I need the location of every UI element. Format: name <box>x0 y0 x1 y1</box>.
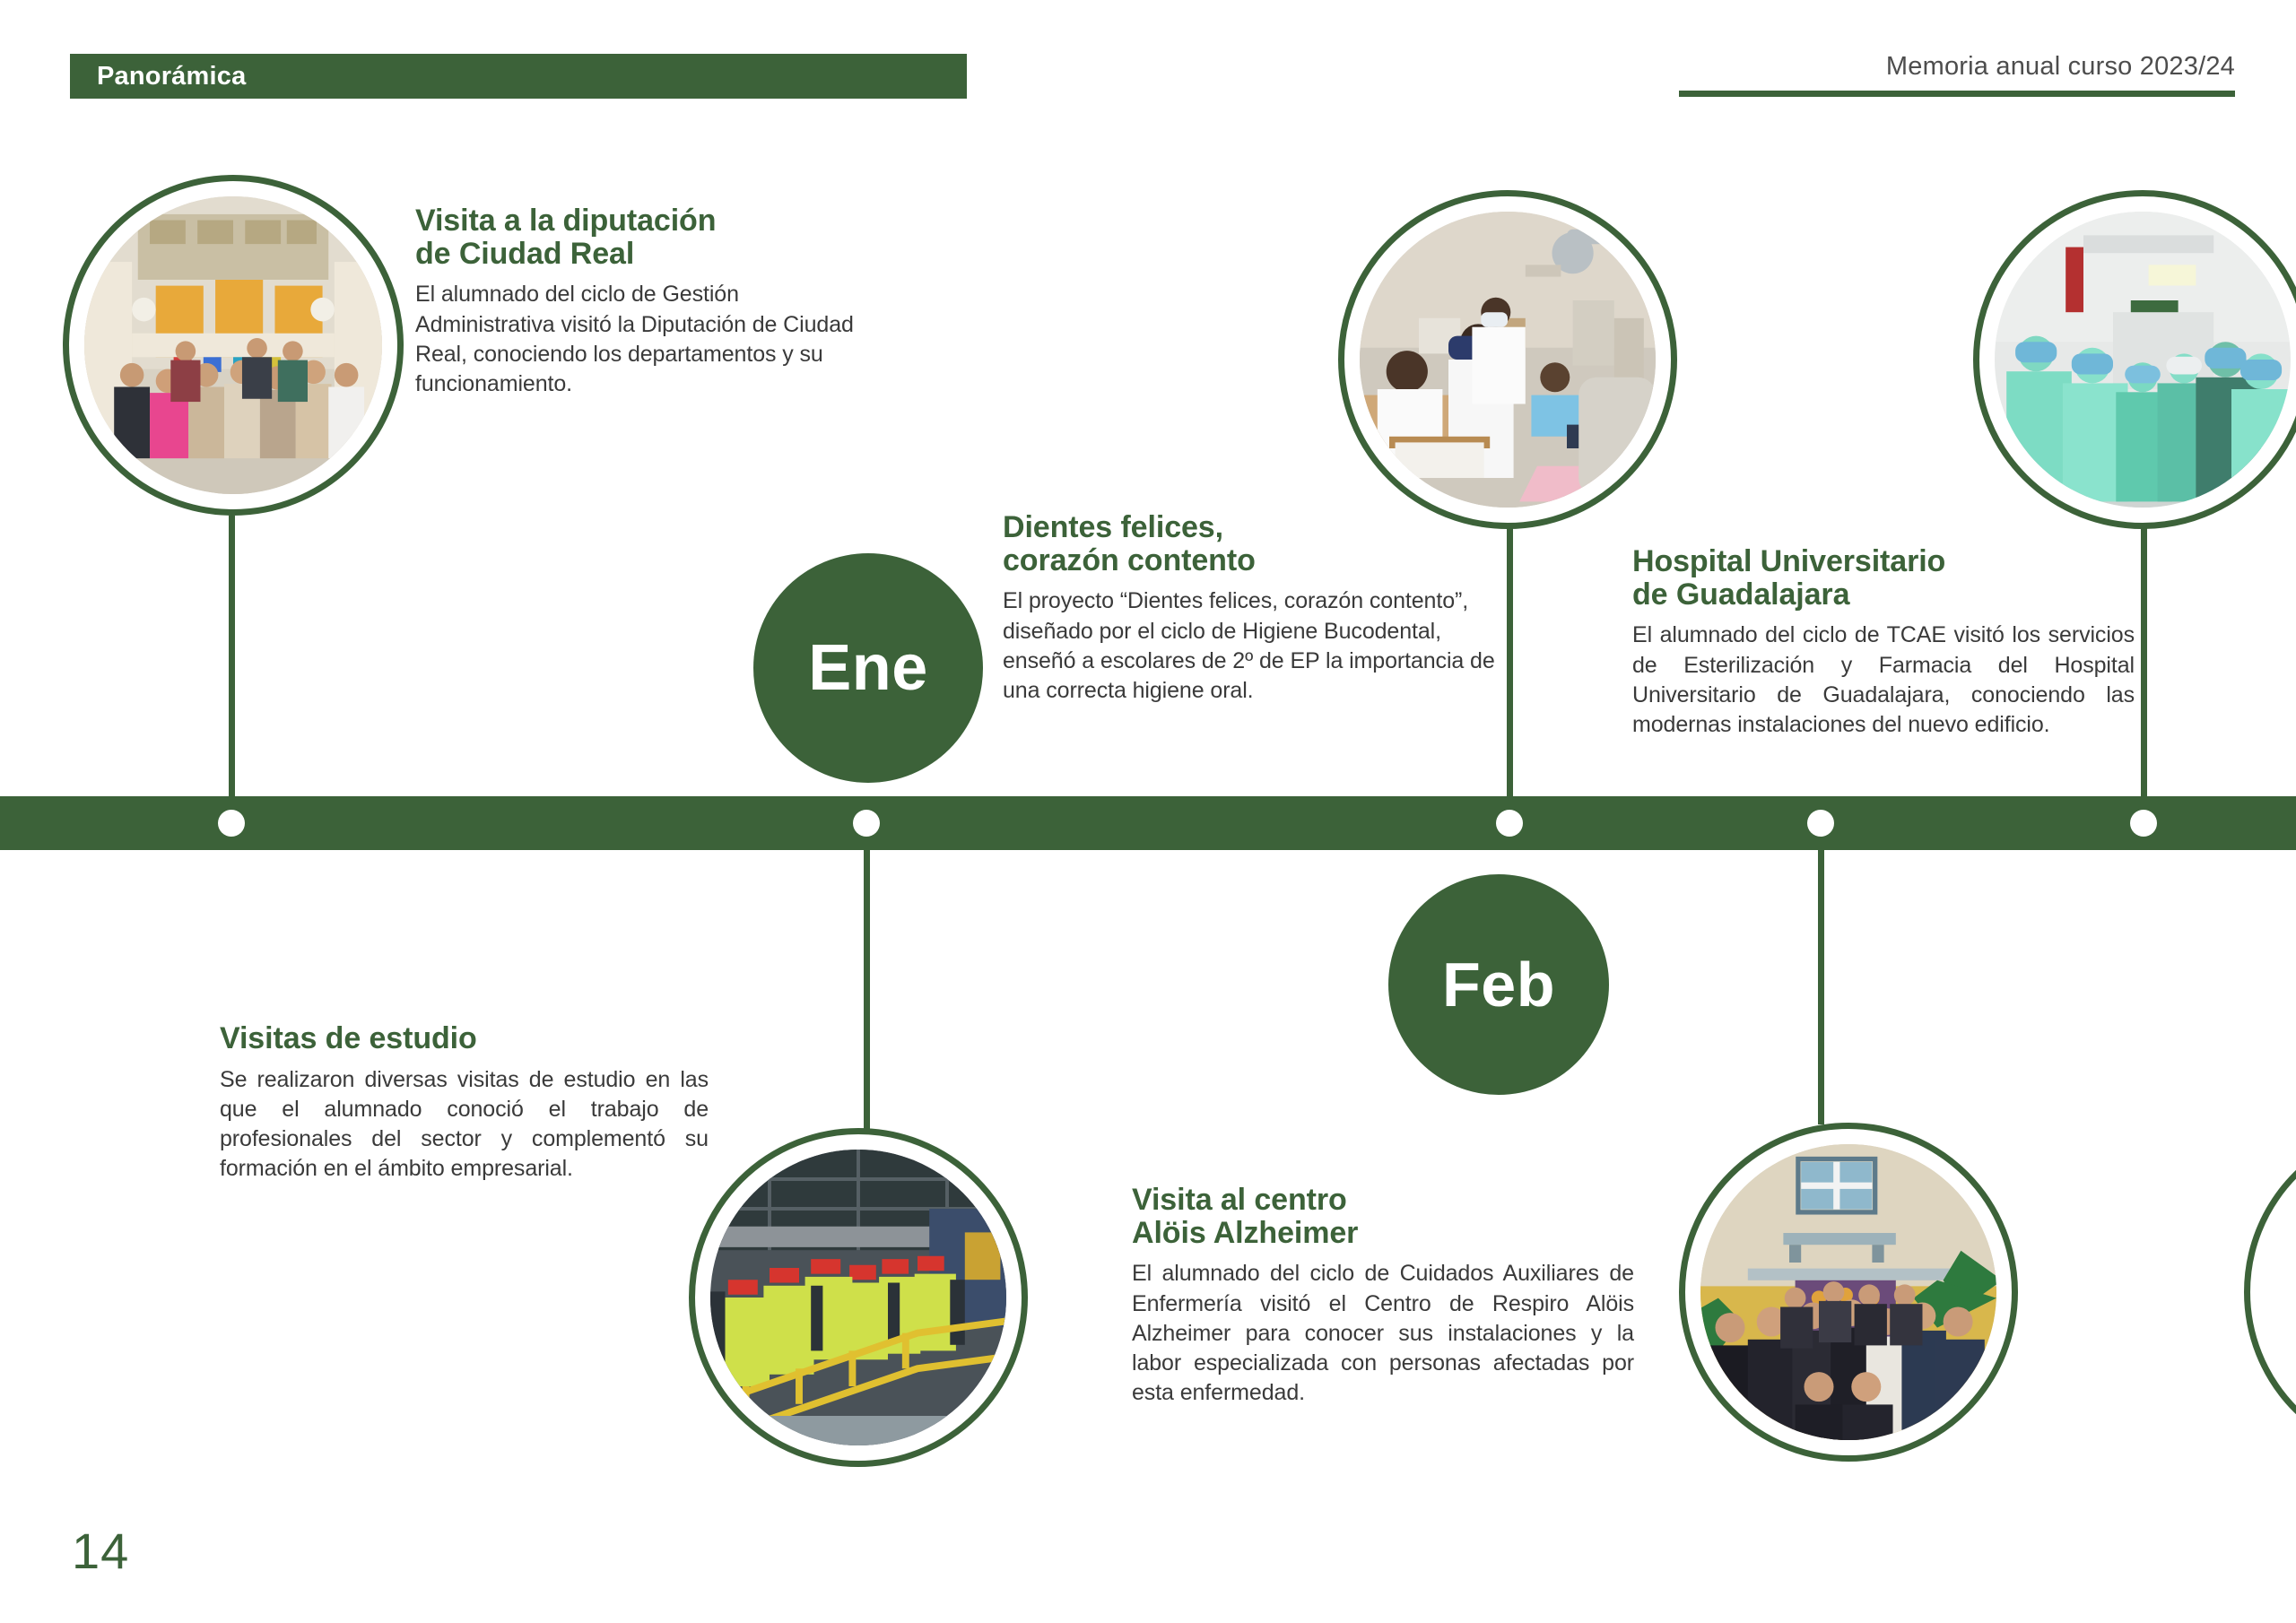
timeline-connector <box>864 846 870 1142</box>
month-badge-label: Feb <box>1442 953 1555 1016</box>
timeline-connector <box>2141 511 2147 800</box>
month-badge-ene: Ene <box>753 553 983 783</box>
document-header: Memoria anual curso 2023/24 <box>1679 52 2235 97</box>
photo-ring-partial-right-edge <box>2244 1123 2296 1462</box>
month-badge-feb: Feb <box>1388 874 1609 1095</box>
timeline-node <box>2130 810 2157 837</box>
photo-image <box>1700 1144 1996 1440</box>
timeline-connector <box>229 516 235 799</box>
section-tab-label: Panorámica <box>70 64 246 90</box>
photo-visitas-de-estudio <box>689 1128 1028 1467</box>
photo-dientes-felices <box>1338 190 1677 529</box>
entry-hospital-guadalajara: Hospital Universitario de Guadalajara El… <box>1632 545 2135 740</box>
entry-body: El alumnado del ciclo de Cuidados Auxili… <box>1132 1259 1634 1408</box>
photo-image <box>1995 212 2291 508</box>
timeline-node <box>218 810 245 837</box>
timeline-connector <box>1818 846 1824 1124</box>
entry-title: Visita a la diputación de Ciudad Real <box>415 204 864 270</box>
page-number: 14 <box>72 1526 129 1576</box>
entry-body: Se realizaron diversas visitas de estudi… <box>220 1065 709 1185</box>
photo-diputacion-ciudad-real <box>63 175 404 516</box>
photo-hospital-guadalajara <box>1973 190 2296 529</box>
entry-body: El alumnado del ciclo de TCAE visitó los… <box>1632 621 2135 740</box>
entry-alois-alzheimer: Visita al centro Alöis Alzheimer El alum… <box>1132 1184 1634 1409</box>
entry-visitas-de-estudio: Visitas de estudio Se realizaron diversa… <box>220 1022 709 1185</box>
entry-title: Hospital Universitario de Guadalajara <box>1632 545 2135 611</box>
timeline-connector <box>1507 511 1513 800</box>
timeline-bar <box>0 796 2296 850</box>
entry-body: El alumnado del ciclo de Gestión Adminis… <box>415 280 864 399</box>
photo-image <box>710 1150 1006 1445</box>
section-tab: Panorámica <box>70 54 967 99</box>
timeline-node <box>853 810 880 837</box>
entry-diputacion-ciudad-real: Visita a la diputación de Ciudad Real El… <box>415 204 864 399</box>
photo-image <box>84 196 382 494</box>
photo-alois-alzheimer <box>1679 1123 2018 1462</box>
entry-title: Dientes felices, corazón contento <box>1003 511 1500 577</box>
document-title: Memoria anual curso 2023/24 <box>1679 52 2235 91</box>
page-canvas: Panorámica Memoria anual curso 2023/24 E… <box>0 0 2296 1623</box>
entry-dientes-felices: Dientes felices, corazón contento El pro… <box>1003 511 1500 706</box>
header-rule <box>1679 91 2235 97</box>
timeline-node <box>1807 810 1834 837</box>
photo-image <box>1360 212 1656 508</box>
entry-title: Visitas de estudio <box>220 1022 709 1055</box>
timeline-node <box>1496 810 1523 837</box>
entry-title: Visita al centro Alöis Alzheimer <box>1132 1184 1634 1249</box>
month-badge-label: Ene <box>808 636 928 700</box>
entry-body: El proyecto “Dientes felices, corazón co… <box>1003 586 1500 706</box>
